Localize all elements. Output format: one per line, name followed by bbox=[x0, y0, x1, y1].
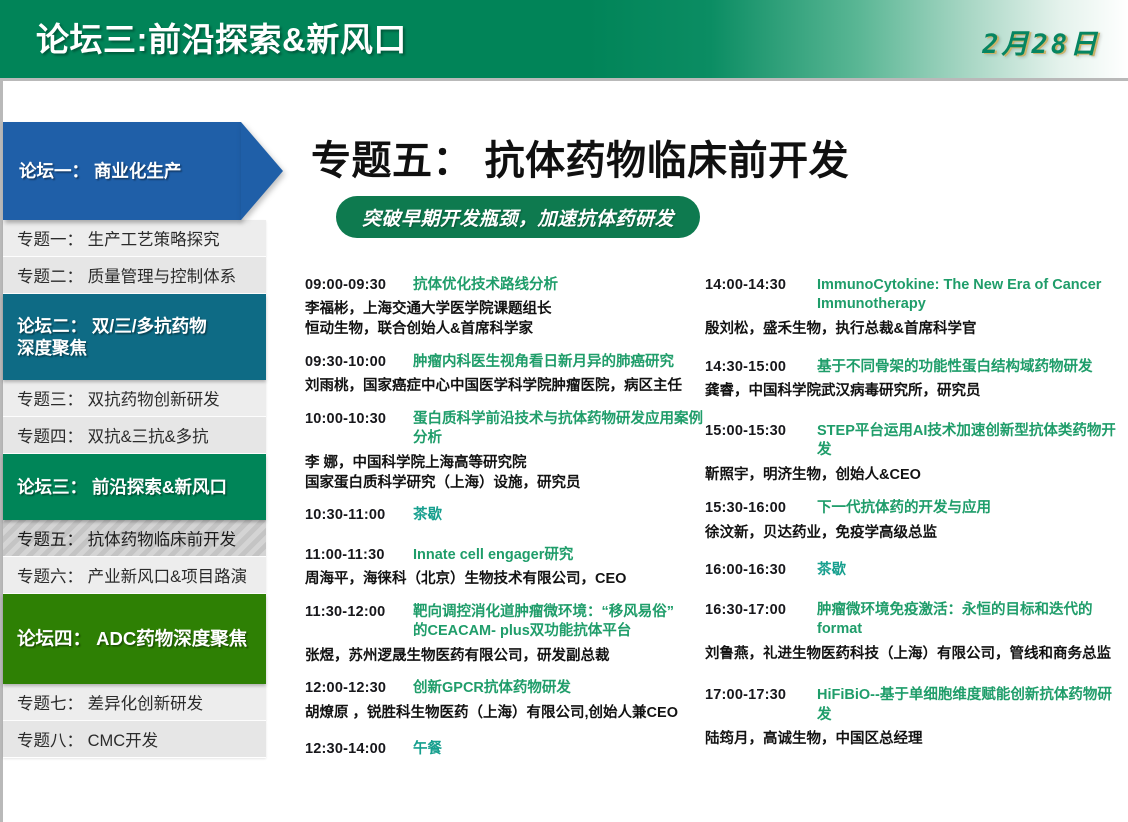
session-item[interactable]: 17:00-17:30 HiFiBiO--基于单细胞维度赋能创新抗体药物研发 陆… bbox=[705, 686, 1125, 750]
session-speaker: 李福彬，上海交通大学医学院课题组长 恒动生物，联合创始人&首席科学家 bbox=[305, 300, 705, 339]
sidebar-nav: 论坛一： 商业化生产 专题一： 生产工艺策略探究 专题二： 质量管理与控制体系 … bbox=[3, 122, 266, 758]
session-item[interactable]: 16:00-16:30 茶歇 bbox=[705, 561, 1125, 580]
session-time: 15:00-15:30 bbox=[705, 422, 817, 439]
sidebar-topic-2-label: 专题二： 质量管理与控制体系 bbox=[17, 263, 236, 287]
session-speaker: 陆筠月，高诚生物，中国区总经理 bbox=[705, 730, 1125, 750]
sidebar-item-forum-3[interactable]: 论坛三： 前沿探索&新风口 bbox=[3, 454, 266, 520]
session-item[interactable]: 14:00-14:30 ImmunoCytokine: The New Era … bbox=[705, 276, 1125, 340]
session-speaker: 靳照宇，明济生物，创始人&CEO bbox=[705, 466, 1125, 486]
session-title: 基于不同骨架的功能性蛋白结构域药物研发 bbox=[817, 358, 1125, 377]
session-item[interactable]: 11:00-11:30 Innate cell engager研究 周海平，海徕… bbox=[305, 546, 705, 590]
sidebar-item-forum-4[interactable]: 论坛四： ADC药物深度聚焦 bbox=[3, 594, 266, 684]
agenda-column-afternoon: 14:00-14:30 ImmunoCytokine: The New Era … bbox=[705, 276, 1125, 816]
session-speaker: 胡燎原 ，锐胜科生物医药（上海）有限公司,创始人兼CEO bbox=[305, 704, 705, 724]
session-title: ImmunoCytokine: The New Era of Cancer Im… bbox=[817, 276, 1125, 315]
session-title: 蛋白质科学前沿技术与抗体药物研发应用案例分析 bbox=[413, 410, 705, 449]
session-time: 16:30-17:00 bbox=[705, 601, 817, 618]
subtitle-text: 突破早期开发瓶颈，加速抗体药研发 bbox=[362, 204, 674, 231]
session-item[interactable]: 12:00-12:30 创新GPCR抗体药物研发 胡燎原 ，锐胜科生物医药（上海… bbox=[305, 679, 705, 723]
session-title: 肿瘤内科医生视角看日新月异的肺癌研究 bbox=[413, 353, 705, 372]
session-speaker: 李 娜，中国科学院上海高等研究院 国家蛋白质科学研究（上海）设施，研究员 bbox=[305, 454, 705, 493]
sidebar-item-topic-4[interactable]: 专题四： 双抗&三抗&多抗 bbox=[3, 417, 266, 454]
sidebar-topic-1-label: 专题一： 生产工艺策略探究 bbox=[17, 226, 220, 250]
session-item[interactable]: 11:30-12:00 靶向调控消化道肿瘤微环境：“移风易俗” 的CEACAM-… bbox=[305, 603, 705, 667]
session-title: 创新GPCR抗体药物研发 bbox=[413, 679, 705, 698]
sidebar-item-forum-2[interactable]: 论坛二： 双/三/多抗药物 深度聚焦 bbox=[3, 294, 266, 380]
sidebar-forum-3-label: 论坛三： 前沿探索&新风口 bbox=[17, 476, 227, 498]
sidebar-item-topic-2[interactable]: 专题二： 质量管理与控制体系 bbox=[3, 257, 266, 294]
sidebar-item-topic-5[interactable]: 专题五： 抗体药物临床前开发 bbox=[3, 520, 266, 557]
sidebar-item-topic-3[interactable]: 专题三： 双抗药物创新研发 bbox=[3, 380, 266, 417]
session-time: 14:00-14:30 bbox=[705, 276, 817, 293]
session-time: 12:00-12:30 bbox=[305, 679, 413, 696]
session-time: 10:30-11:00 bbox=[305, 506, 413, 523]
session-item[interactable]: 09:30-10:00 肿瘤内科医生视角看日新月异的肺癌研究 刘雨桃，国家癌症中… bbox=[305, 353, 705, 397]
session-title: 午餐 bbox=[413, 740, 705, 759]
slide-root: 论坛三:前沿探索&新风口 2月28日 论坛一： 商业化生产 专题一： 生产工艺策… bbox=[0, 0, 1128, 822]
session-time: 15:30-16:00 bbox=[705, 499, 817, 516]
session-title: 抗体优化技术路线分析 bbox=[413, 276, 705, 295]
sidebar-item-topic-1[interactable]: 专题一： 生产工艺策略探究 bbox=[3, 220, 266, 257]
session-title: 肿瘤微环境免疫激活：永恒的目标和迭代的 format bbox=[817, 601, 1125, 640]
session-item[interactable]: 10:00-10:30 蛋白质科学前沿技术与抗体药物研发应用案例分析 李 娜，中… bbox=[305, 410, 705, 493]
session-title: Innate cell engager研究 bbox=[413, 546, 705, 565]
header-date: 2月28日 bbox=[982, 22, 1100, 61]
session-title: 茶歇 bbox=[413, 506, 705, 525]
header-title: 论坛三:前沿探索&新风口 bbox=[36, 13, 407, 61]
session-title: STEP平台运用AI技术加速创新型抗体类药物开发 bbox=[817, 422, 1125, 461]
session-speaker: 刘鲁燕，礼进生物医药科技（上海）有限公司，管线和商务总监 bbox=[705, 645, 1125, 665]
session-item[interactable]: 15:30-16:00 下一代抗体药的开发与应用 徐汶新，贝达药业，免疫学高级总… bbox=[705, 499, 1125, 543]
subtitle-badge: 突破早期开发瓶颈，加速抗体药研发 bbox=[336, 196, 700, 238]
session-time: 11:30-12:00 bbox=[305, 603, 413, 620]
sidebar-topic-6-label: 专题六： 产业新风口&项目路演 bbox=[17, 563, 247, 587]
session-title: HiFiBiO--基于单细胞维度赋能创新抗体药物研发 bbox=[817, 686, 1125, 725]
session-time: 17:00-17:30 bbox=[705, 686, 817, 703]
session-time: 12:30-14:00 bbox=[305, 740, 413, 757]
session-speaker: 张煜，苏州逻晟生物医药有限公司，研发副总裁 bbox=[305, 647, 705, 667]
session-time: 10:00-10:30 bbox=[305, 410, 413, 427]
session-item[interactable]: 14:30-15:00 基于不同骨架的功能性蛋白结构域药物研发 龚睿，中国科学院… bbox=[705, 358, 1125, 402]
sidebar-item-topic-8[interactable]: 专题八： CMC开发 bbox=[3, 721, 266, 758]
session-time: 16:00-16:30 bbox=[705, 561, 817, 578]
sidebar-topic-8-label: 专题八： CMC开发 bbox=[17, 727, 158, 751]
session-title: 茶歇 bbox=[817, 561, 1125, 580]
sidebar-item-topic-6[interactable]: 专题六： 产业新风口&项目路演 bbox=[3, 557, 266, 594]
session-speaker: 刘雨桃，国家癌症中心中国医学科学院肿瘤医院，病区主任 bbox=[305, 377, 705, 397]
sidebar-item-forum-1[interactable]: 论坛一： 商业化生产 bbox=[3, 122, 241, 220]
sidebar-topic-7-label: 专题七： 差异化创新研发 bbox=[17, 690, 203, 714]
sidebar-topic-4-label: 专题四： 双抗&三抗&多抗 bbox=[17, 423, 209, 447]
session-time: 09:00-09:30 bbox=[305, 276, 413, 293]
sidebar-forum-1-label: 论坛一： 商业化生产 bbox=[19, 160, 181, 182]
session-speaker: 周海平，海徕科（北京）生物技术有限公司，CEO bbox=[305, 570, 705, 590]
session-item[interactable]: 15:00-15:30 STEP平台运用AI技术加速创新型抗体类药物开发 靳照宇… bbox=[705, 422, 1125, 486]
session-speaker: 殷刘松，盛禾生物，执行总裁&首席科学官 bbox=[705, 320, 1125, 340]
session-title: 下一代抗体药的开发与应用 bbox=[817, 499, 1125, 518]
agenda-grid: 09:00-09:30 抗体优化技术路线分析 李福彬，上海交通大学医学院课题组长… bbox=[305, 276, 1125, 816]
session-speaker: 徐汶新，贝达药业，免疫学高级总监 bbox=[705, 524, 1125, 544]
header-divider bbox=[0, 78, 1128, 81]
agenda-column-morning: 09:00-09:30 抗体优化技术路线分析 李福彬，上海交通大学医学院课题组长… bbox=[305, 276, 705, 816]
session-speaker: 龚睿，中国科学院武汉病毒研究所，研究员 bbox=[705, 382, 1125, 402]
session-item[interactable]: 10:30-11:00 茶歇 bbox=[305, 506, 705, 525]
session-title: 靶向调控消化道肿瘤微环境：“移风易俗” 的CEACAM- plus双功能抗体平台 bbox=[413, 603, 705, 642]
session-item[interactable]: 12:30-14:00 午餐 bbox=[305, 740, 705, 759]
sidebar-forum-2-label: 论坛二： 双/三/多抗药物 深度聚焦 bbox=[17, 315, 207, 359]
session-time: 09:30-10:00 bbox=[305, 353, 413, 370]
session-time: 14:30-15:00 bbox=[705, 358, 817, 375]
sidebar-topic-3-label: 专题三： 双抗药物创新研发 bbox=[17, 386, 220, 410]
session-time: 11:00-11:30 bbox=[305, 546, 413, 563]
session-item[interactable]: 09:00-09:30 抗体优化技术路线分析 李福彬，上海交通大学医学院课题组长… bbox=[305, 276, 705, 340]
sidebar-item-topic-7[interactable]: 专题七： 差异化创新研发 bbox=[3, 684, 266, 721]
sidebar-forum-4-label: 论坛四： ADC药物深度聚焦 bbox=[17, 627, 247, 650]
session-item[interactable]: 16:30-17:00 肿瘤微环境免疫激活：永恒的目标和迭代的 format 刘… bbox=[705, 601, 1125, 665]
page-title: 专题五： 抗体药物临床前开发 bbox=[311, 128, 849, 186]
sidebar-topic-5-label: 专题五： 抗体药物临床前开发 bbox=[17, 526, 236, 550]
